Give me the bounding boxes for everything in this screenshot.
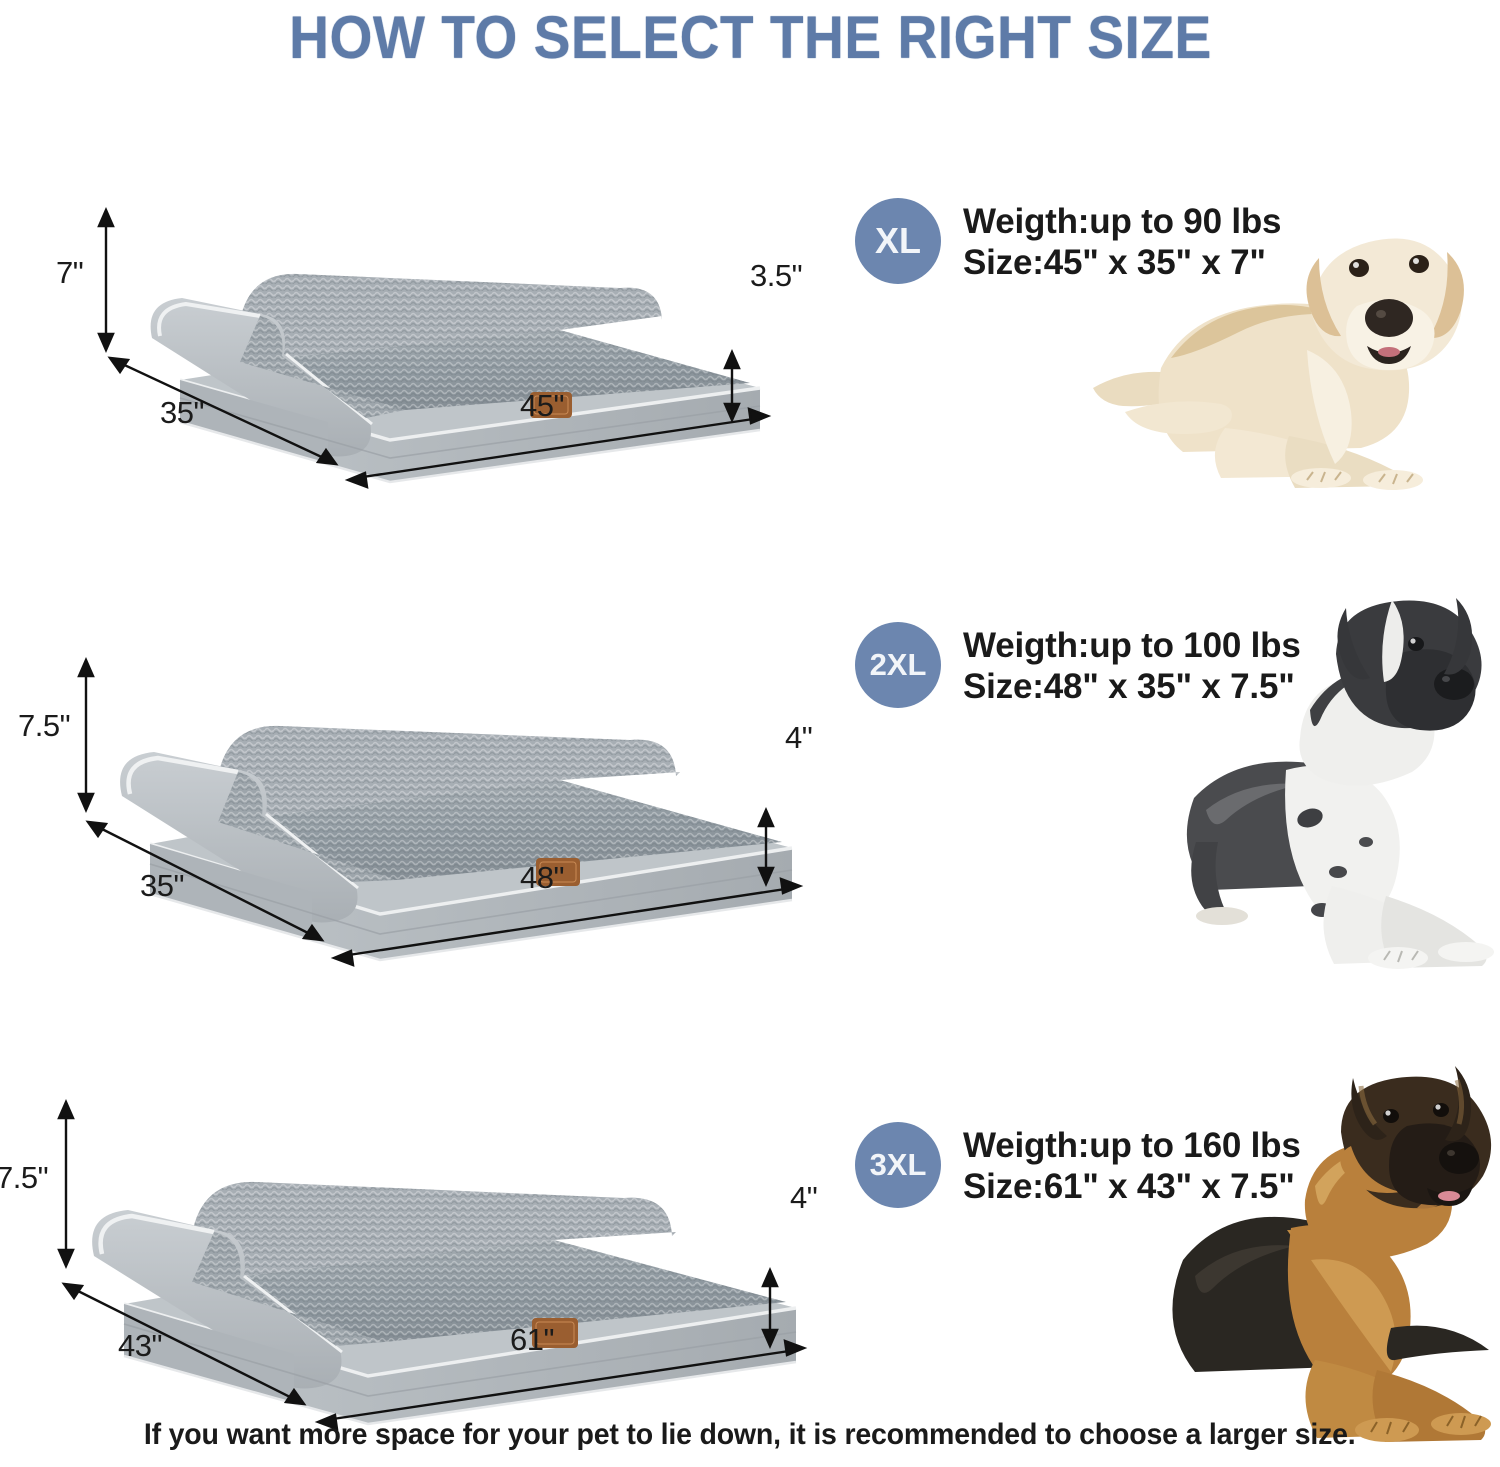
dim-bolster-height-xl: 7" (56, 255, 83, 291)
golden-retriever-illustration (1075, 200, 1495, 490)
size-row-2xl: 7.5" 35" 48" 4" 2XL Weigth:up to 100 lbs… (0, 570, 1500, 1000)
page-title-text: HOW TO SELECT THE RIGHT SIZE (289, 3, 1212, 72)
page-title: HOW TO SELECT THE RIGHT SIZE (0, 0, 1500, 74)
bed-illustration-xl: 7" 35" 45" 3.5" (60, 130, 840, 490)
bed-illustration-3xl: 7.5" 43" 61" 4" (20, 1050, 860, 1440)
great-dane-illustration (1160, 580, 1500, 980)
footer-note-text: If you want more space for your pet to l… (144, 1418, 1356, 1452)
size-badge-2xl: 2XL (855, 622, 941, 708)
dim-length-3xl: 61" (510, 1322, 554, 1358)
dim-bolster-height-2xl: 7.5" (18, 708, 70, 744)
german-shepherd-illustration (1155, 1060, 1500, 1450)
dim-bolster-height-3xl: 7.5" (0, 1160, 48, 1196)
bed-illustration-2xl: 7.5" 35" 48" 4" (40, 580, 860, 980)
dog-photo-golden-retriever (1075, 200, 1495, 490)
dim-mattress-height-2xl: 4" (785, 720, 812, 756)
dog-photo-german-shepherd (1155, 1060, 1500, 1450)
dim-depth-3xl: 43" (118, 1328, 162, 1364)
bed-diagram-2xl (40, 580, 860, 980)
size-row-xl: 7" 35" 45" 3.5" XL Weigth:up to 90 lbs S… (0, 110, 1500, 510)
dim-length-2xl: 48" (520, 860, 564, 896)
dim-mattress-height-xl: 3.5" (750, 258, 802, 294)
dim-depth-xl: 35" (160, 395, 204, 431)
size-badge-3xl: 3XL (855, 1122, 941, 1208)
bed-diagram-xl (60, 130, 840, 490)
bed-diagram-3xl (20, 1050, 860, 1440)
footer-note: If you want more space for your pet to l… (0, 1418, 1500, 1452)
dog-photo-great-dane (1160, 580, 1500, 980)
dim-depth-2xl: 35" (140, 868, 184, 904)
dim-length-xl: 45" (520, 388, 564, 424)
dim-mattress-height-3xl: 4" (790, 1180, 817, 1216)
size-row-3xl: 7.5" 43" 61" 4" 3XL Weigth:up to 160 lbs… (0, 1040, 1500, 1440)
size-badge-xl: XL (855, 198, 941, 284)
